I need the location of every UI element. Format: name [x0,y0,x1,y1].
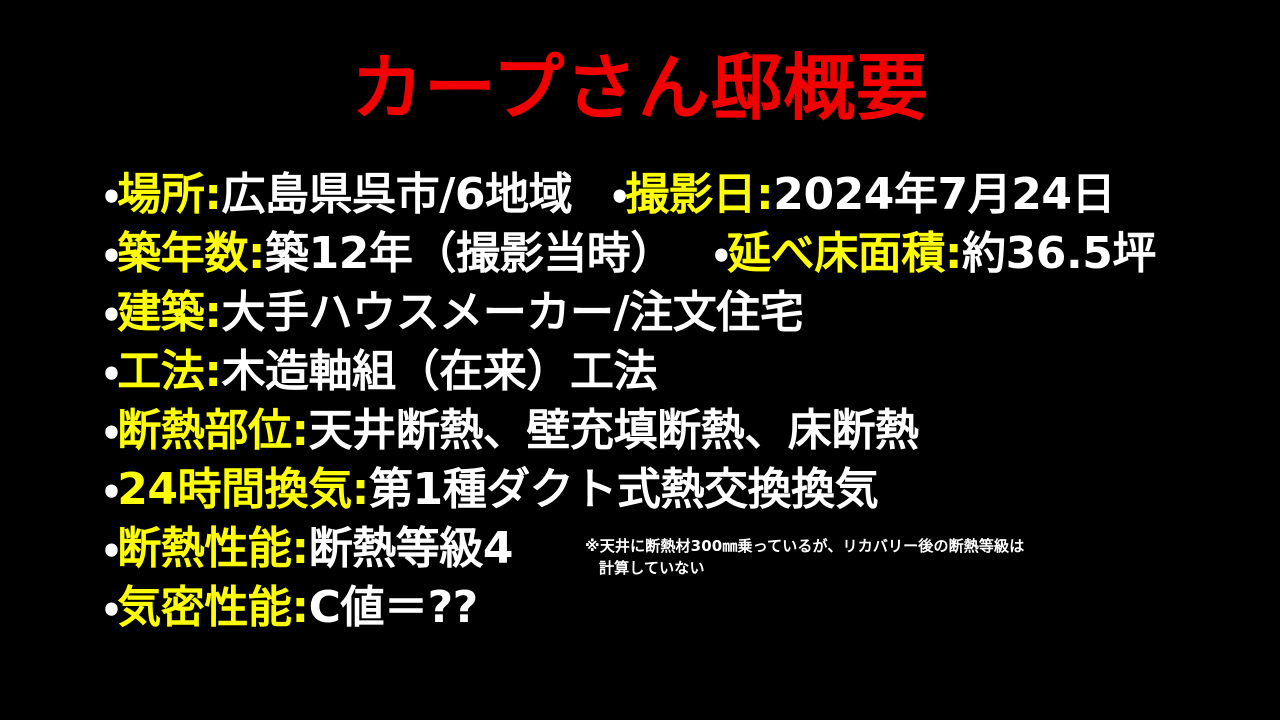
spec-label: 工法: [117,346,221,397]
slide-root: カープさん邸概要 ・場所:広島県呉市/6地域 ・撮影日:2024年7月24日 ・… [0,0,1280,720]
spec-label: 気密性能: [117,582,308,633]
bullet-icon: ・ [104,169,117,220]
page-title: カープさん邸概要 [0,52,1280,124]
spec-row: ・場所:広島県呉市/6地域 ・撮影日:2024年7月24日 [104,168,1274,227]
spec-value: 広島県呉市/6地域 [221,169,572,220]
spec-label: 場所: [117,169,221,220]
bullet-icon: ・ [104,523,117,574]
spec-value: 木造軸組（在来）工法 [221,346,657,397]
spec-item-total-floor-area: ・延べ床面積:約36.5坪 [714,227,1156,290]
spec-value: 天井断熱、壁充填断熱、床断熱 [309,405,919,456]
spec-row: ・工法:木造軸組（在来）工法 [104,345,1274,404]
spec-item-construction-method: ・工法:木造軸組（在来）工法 [104,345,657,408]
bullet-icon: ・ [104,405,117,456]
spec-item-shooting-date: ・撮影日:2024年7月24日 [612,168,1115,231]
bullet-icon: ・ [104,287,117,338]
spec-label: 断熱部位: [117,405,308,456]
spec-row: ・断熱部位:天井断熱、壁充填断熱、床断熱 [104,404,1274,463]
bullet-icon: ・ [714,228,727,279]
spec-row: ・建築:大手ハウスメーカー/注文住宅 [104,286,1274,345]
spec-value: 第1種ダクト式熱交換換気 [369,464,878,515]
spec-row: ・24時間換気:第1種ダクト式熱交換換気 [104,463,1274,522]
spec-value: 2024年7月24日 [773,169,1115,220]
spec-item-location: ・場所:広島県呉市/6地域 [104,168,572,231]
bullet-icon: ・ [104,582,117,633]
footnote-line-2: 計算していない [585,558,1024,580]
spec-value: 築12年（撮影当時） [265,228,674,279]
spec-item-ventilation: ・24時間換気:第1種ダクト式熱交換換気 [104,463,878,526]
spec-label: 断熱性能: [117,523,308,574]
spec-item-insulation-areas: ・断熱部位:天井断熱、壁充填断熱、床断熱 [104,404,918,467]
bullet-icon: ・ [612,169,625,220]
spec-row: ・気密性能:C値＝?? [104,581,1274,640]
spec-label: 延べ床面積: [727,228,962,279]
spec-value: 大手ハウスメーカー/注文住宅 [221,287,803,338]
spec-label: 24時間換気: [117,464,369,515]
spec-item-insulation-performance: ・断熱性能:断熱等級4 [104,522,513,585]
footnote-line-1: ※天井に断熱材300㎜乗っているが、リカバリー後の断熱等級は [585,536,1024,558]
spec-row: ・築年数:築12年（撮影当時） ・延べ床面積:約36.5坪 [104,227,1274,286]
spec-value: 断熱等級4 [309,523,513,574]
spec-label: 建築: [117,287,221,338]
spec-value: 約36.5坪 [962,228,1156,279]
footnote: ※天井に断熱材300㎜乗っているが、リカバリー後の断熱等級は 計算していない [585,536,1024,580]
spec-item-building-age: ・築年数:築12年（撮影当時） [104,227,674,290]
bullet-icon: ・ [104,464,117,515]
spec-label: 撮影日: [625,169,773,220]
spec-item-airtightness-performance: ・気密性能:C値＝?? [104,581,478,644]
spec-item-builder: ・建築:大手ハウスメーカー/注文住宅 [104,286,803,349]
bullet-icon: ・ [104,228,117,279]
bullet-icon: ・ [104,346,117,397]
spec-value: C値＝?? [309,582,478,633]
spec-label: 築年数: [117,228,265,279]
